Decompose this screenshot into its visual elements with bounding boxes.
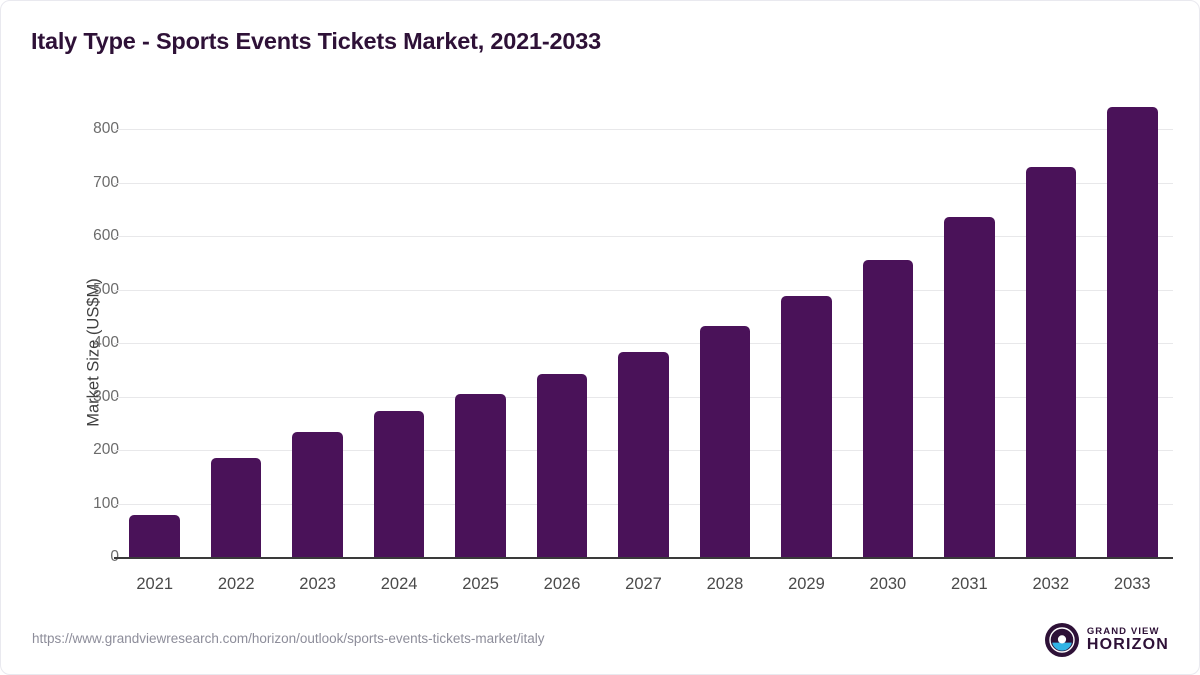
bar[interactable]: [537, 374, 588, 557]
x-axis-tick-label: 2024: [381, 575, 418, 594]
x-axis-tick-label: 2023: [299, 575, 336, 594]
x-axis-tick-label: 2025: [462, 575, 499, 594]
gridline: [114, 183, 1173, 184]
x-axis-tick-label: 2030: [870, 575, 907, 594]
bar[interactable]: [863, 260, 914, 557]
chart-plot-area: Market Size (US$M) 010020030040050060070…: [1, 1, 1200, 675]
x-axis-tick-label: 2032: [1032, 575, 1069, 594]
gridline: [114, 343, 1173, 344]
x-axis-tick-label: 2021: [136, 575, 173, 594]
logo-line-2: HORIZON: [1087, 637, 1169, 654]
bar[interactable]: [292, 432, 343, 557]
gridline: [114, 290, 1173, 291]
x-axis-tick-label: 2022: [218, 575, 255, 594]
bar[interactable]: [700, 326, 751, 557]
x-axis-tick-label: 2026: [544, 575, 581, 594]
bar[interactable]: [618, 352, 669, 557]
bar[interactable]: [374, 411, 425, 557]
chart-page: Italy Type - Sports Events Tickets Marke…: [0, 0, 1200, 675]
x-axis-tick-label: 2029: [788, 575, 825, 594]
bar[interactable]: [781, 296, 832, 557]
bar[interactable]: [1026, 167, 1077, 557]
brand-logo[interactable]: GRAND VIEW HORIZON: [1045, 622, 1169, 658]
bar[interactable]: [129, 515, 180, 557]
x-axis-tick-label: 2027: [625, 575, 662, 594]
logo-text: GRAND VIEW HORIZON: [1087, 627, 1169, 654]
x-axis-line: [114, 557, 1173, 559]
bar[interactable]: [455, 394, 506, 557]
plot-inner: [114, 129, 1173, 557]
bar[interactable]: [211, 458, 262, 558]
gridline: [114, 236, 1173, 237]
bar[interactable]: [1107, 107, 1158, 557]
x-axis-tick-label: 2031: [951, 575, 988, 594]
x-axis-tick-label: 2028: [707, 575, 744, 594]
source-url[interactable]: https://www.grandviewresearch.com/horizo…: [32, 631, 544, 646]
gridline: [114, 129, 1173, 130]
horizon-circle-icon: [1045, 623, 1079, 657]
bar[interactable]: [944, 217, 995, 557]
x-axis-tick-label: 2033: [1114, 575, 1151, 594]
